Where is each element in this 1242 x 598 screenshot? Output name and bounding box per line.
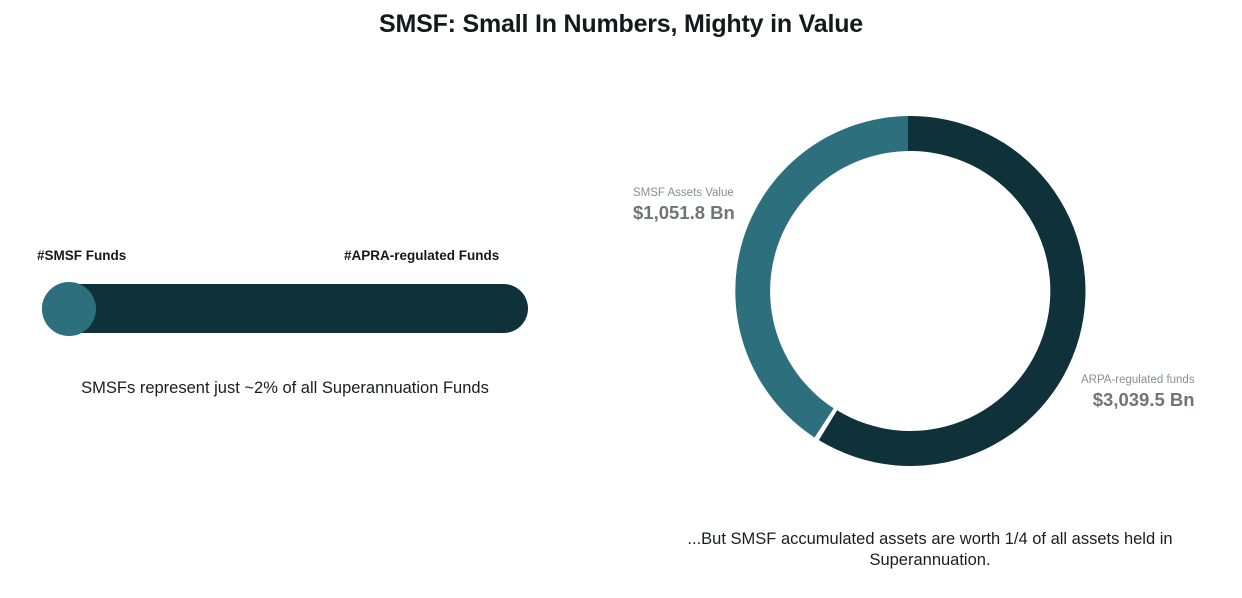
smsf-assets-value: $1,051.8 Bn xyxy=(633,201,735,225)
donut-slice-smsf xyxy=(735,116,908,438)
apra-funds-label: #APRA-regulated Funds xyxy=(344,248,499,263)
assets-caption: ...But SMSF accumulated assets are worth… xyxy=(650,529,1210,571)
apra-assets-value: $3,039.5 Bn xyxy=(1081,388,1195,412)
donut-svg xyxy=(620,0,1242,500)
apra-assets-label: ARPA-regulated funds xyxy=(1081,373,1195,388)
smsf-assets-label: SMSF Assets Value xyxy=(633,186,735,201)
smsf-funds-label: #SMSF Funds xyxy=(37,248,126,263)
donut-rings xyxy=(735,116,1085,466)
bar-dot-smsf-segment xyxy=(42,282,96,336)
apra-assets-annotation: ARPA-regulated funds $3,039.5 Bn xyxy=(1081,373,1195,412)
bar-track-apra-segment xyxy=(42,284,528,333)
donut-slice-apra xyxy=(819,116,1086,466)
assets-donut-chart: SMSF Assets Value $1,051.8 Bn ARPA-regul… xyxy=(620,0,1242,598)
fund-count-caption: SMSFs represent just ~2% of all Superann… xyxy=(60,378,510,399)
fund-count-chart: #SMSF Funds #APRA-regulated Funds SMSFs … xyxy=(0,0,580,598)
smsf-assets-annotation: SMSF Assets Value $1,051.8 Bn xyxy=(633,186,735,225)
